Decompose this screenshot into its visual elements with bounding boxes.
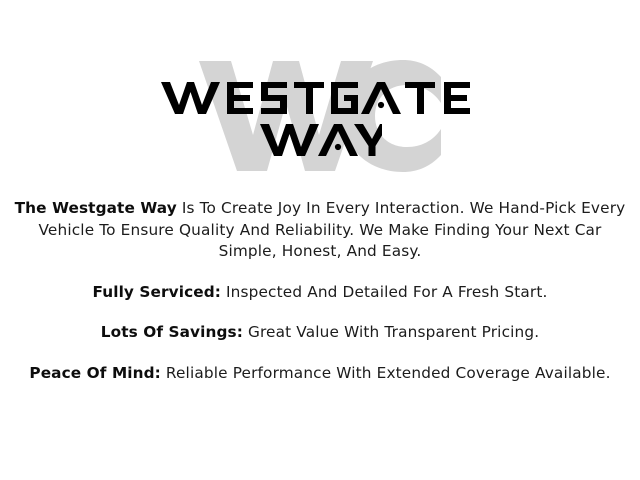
paragraph-rest: Great Value With Transparent Pricing. [243, 323, 539, 341]
paragraph-lots-of-savings: Lots Of Savings: Great Value With Transp… [14, 322, 626, 344]
promo-card: The Westgate Way Is To Create Joy In Eve… [0, 0, 640, 480]
body-copy: The Westgate Way Is To Create Joy In Eve… [14, 198, 626, 384]
logo-way-text [258, 119, 382, 159]
brand-wordmark-group [0, 46, 640, 186]
brand-logo [0, 46, 640, 186]
paragraph-westgate-way: The Westgate Way Is To Create Joy In Eve… [14, 198, 626, 263]
paragraph-lead: The Westgate Way [15, 199, 177, 217]
paragraph-lead: Peace Of Mind: [29, 364, 160, 382]
paragraph-rest: Reliable Performance With Extended Cover… [161, 364, 611, 382]
paragraph-lead: Fully Serviced: [92, 283, 221, 301]
paragraph-fully-serviced: Fully Serviced: Inspected And Detailed F… [14, 282, 626, 304]
paragraph-rest: Inspected And Detailed For A Fresh Start… [221, 283, 548, 301]
paragraph-lead: Lots Of Savings: [101, 323, 243, 341]
paragraph-peace-of-mind: Peace Of Mind: Reliable Performance With… [14, 363, 626, 385]
logo-westgate-text [159, 77, 481, 117]
